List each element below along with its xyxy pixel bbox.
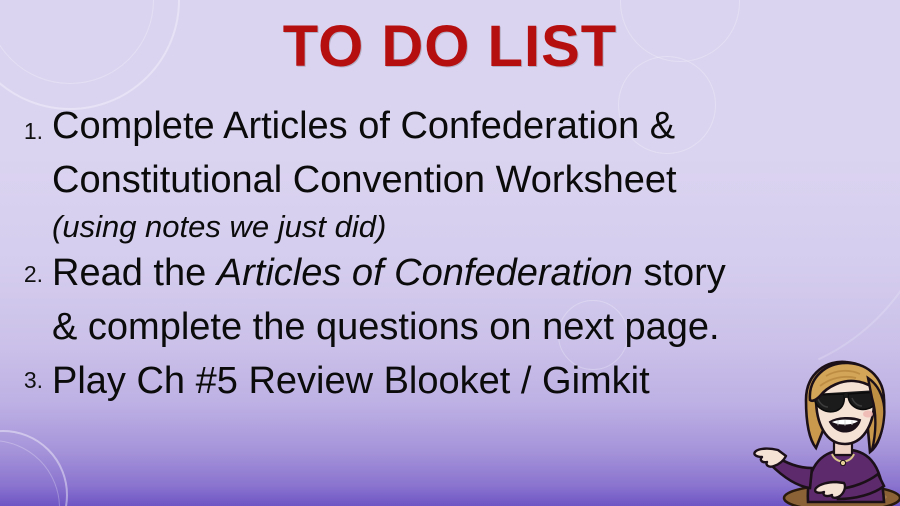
slide-canvas: TO DO LIST 1. Complete Articles of Confe… xyxy=(0,0,900,506)
list-item-text-pre: Read the xyxy=(52,252,217,294)
list-item-line-2: Constitutional Convention Worksheet xyxy=(52,159,677,201)
list-item: 1. Complete Articles of Confederation & … xyxy=(0,100,900,247)
list-item-text-emphasis: Articles of Confederation xyxy=(217,252,633,294)
list-item-line-2: & complete the questions on next page. xyxy=(52,306,720,348)
decorative-ring-bottom-left xyxy=(0,430,68,506)
list-item-text: Complete Articles of Confederation & Con… xyxy=(52,100,900,247)
list-item-text: Play Ch #5 Review Blooket / Gimkit xyxy=(52,355,900,409)
list-item-number: 1. xyxy=(6,120,52,143)
todo-list: 1. Complete Articles of Confederation & … xyxy=(0,100,900,409)
page-title: TO DO LIST xyxy=(0,17,900,78)
list-item: 2. Read the Articles of Confederation st… xyxy=(0,247,900,355)
decorative-ring-bottom-left-outer xyxy=(0,440,60,506)
list-item-text: Read the Articles of Confederation story… xyxy=(52,247,900,355)
list-item-number: 3. xyxy=(6,369,52,392)
list-item-line-1: Complete Articles of Confederation & xyxy=(52,105,675,147)
list-item-line-1: Play Ch #5 Review Blooket / Gimkit xyxy=(52,360,650,402)
list-item-text-post: story xyxy=(633,252,726,294)
list-item: 3. Play Ch #5 Review Blooket / Gimkit xyxy=(0,355,900,409)
list-item-number: 2. xyxy=(6,263,52,286)
list-item-note: (using notes we just did) xyxy=(52,208,892,247)
